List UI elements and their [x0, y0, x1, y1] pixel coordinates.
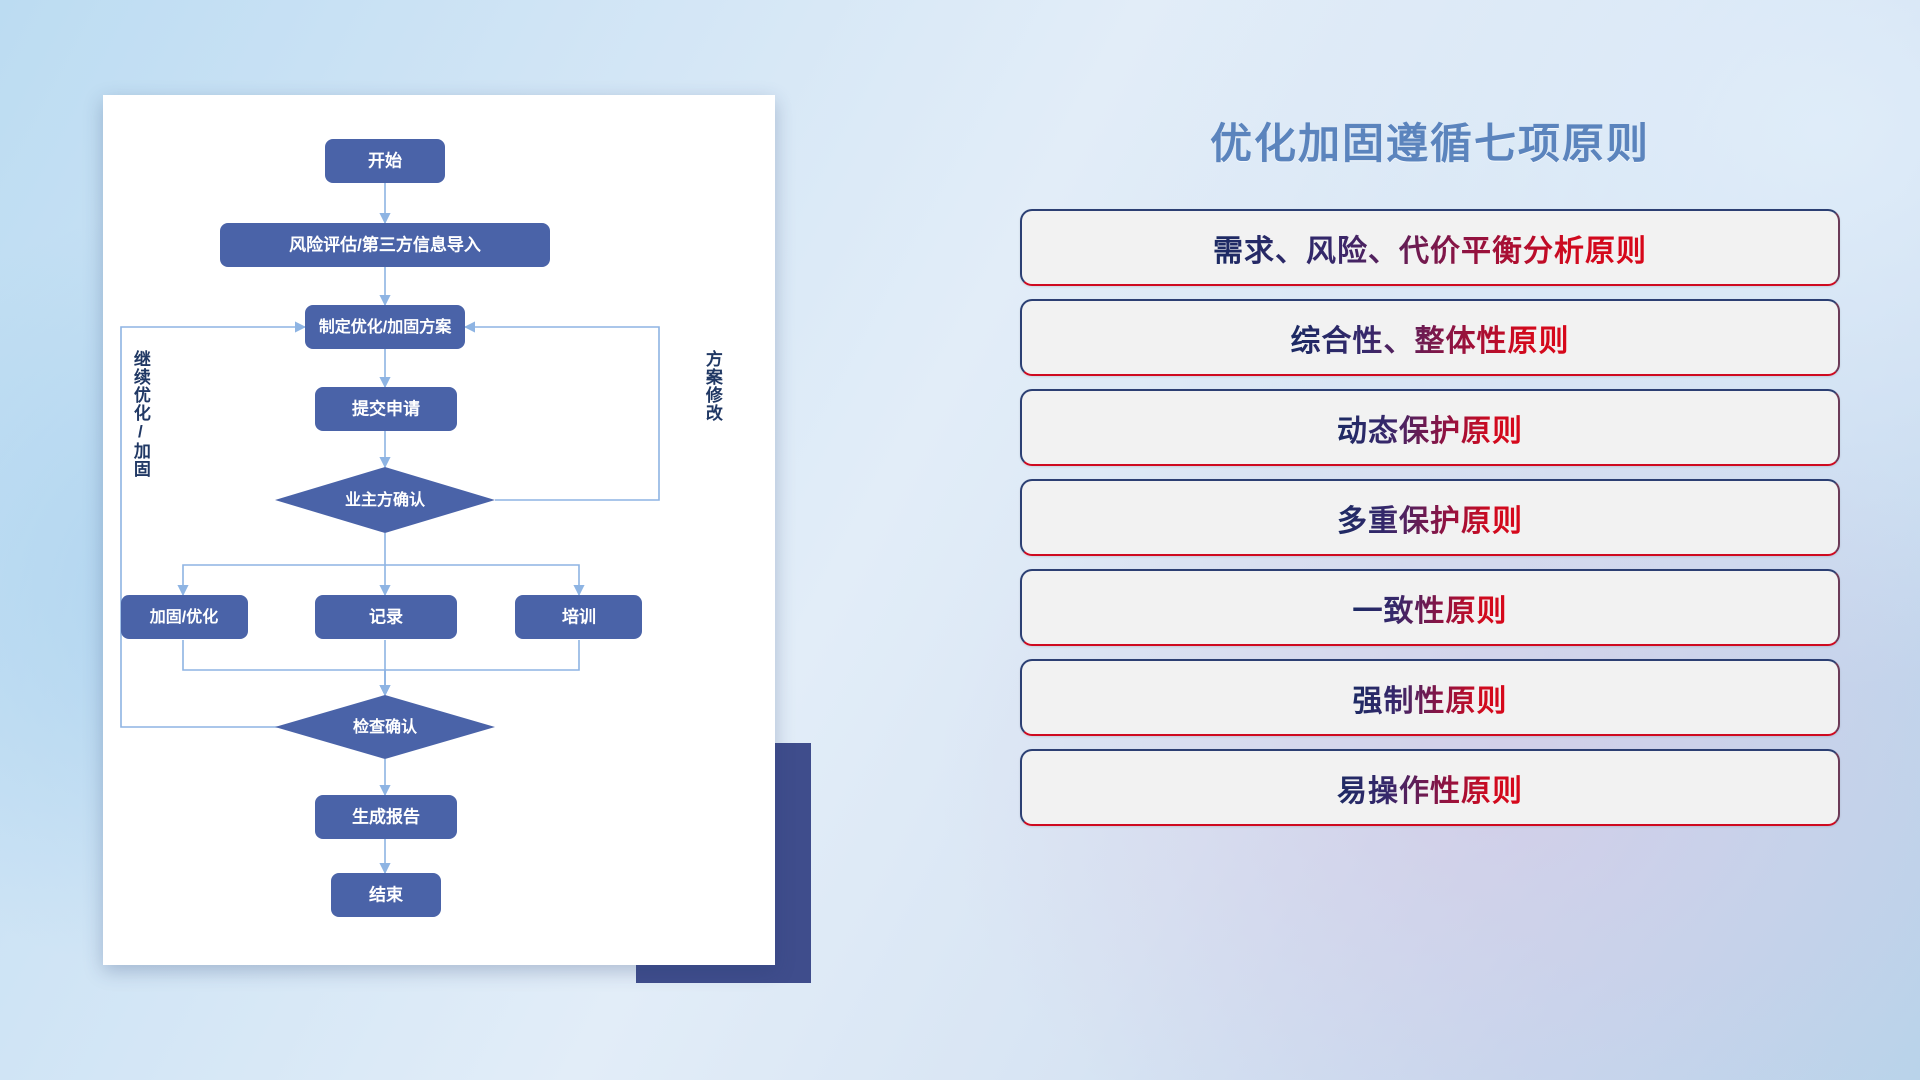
flow-node-start-label: 开始 [368, 150, 402, 170]
principle-card[interactable]: 综合性、整体性原则 [1020, 299, 1840, 376]
flow-edge-label-right-loop: 方案修改 [703, 350, 721, 422]
flowchart-svg: 开始 风险评估/第三方信息导入 制定优化/加固方案 提交申请 业主方确认 [103, 95, 775, 965]
principle-card-label: 强制性原则 [1353, 676, 1508, 720]
flow-node-start[interactable]: 开始 [325, 139, 445, 183]
flow-node-report-label: 生成报告 [352, 806, 420, 826]
flow-node-record-label: 记录 [369, 607, 403, 626]
flow-node-check[interactable]: 检查确认 [275, 695, 495, 759]
flow-node-train-label: 培训 [562, 606, 596, 626]
flow-node-risk-label: 风险评估/第三方信息导入 [289, 234, 481, 254]
flow-node-end-label: 结束 [369, 884, 403, 904]
flow-node-owner-confirm-label: 业主方确认 [345, 490, 426, 509]
principle-card-label: 综合性、整体性原则 [1291, 316, 1570, 360]
principle-card-label: 一致性原则 [1353, 586, 1508, 630]
principle-card-label: 动态保护原则 [1337, 406, 1523, 450]
flow-node-submit[interactable]: 提交申请 [315, 387, 457, 431]
principles-list: 需求、风险、代价平衡分析原则 综合性、整体性原则 动态保护原则 多重保护原则 一… [1020, 209, 1840, 826]
flow-node-risk[interactable]: 风险评估/第三方信息导入 [220, 223, 550, 267]
principles-section: 优化加固遵循七项原则 需求、风险、代价平衡分析原则 综合性、整体性原则 动态保护… [1020, 95, 1840, 995]
flow-node-check-label: 检查确认 [353, 717, 418, 736]
flow-edge-label-left-loop: 继续优化/加固 [131, 350, 149, 478]
flow-node-report[interactable]: 生成报告 [315, 795, 457, 839]
slide-canvas: 开始 风险评估/第三方信息导入 制定优化/加固方案 提交申请 业主方确认 [0, 0, 1920, 1080]
principle-card[interactable]: 需求、风险、代价平衡分析原则 [1020, 209, 1840, 286]
flow-node-plan[interactable]: 制定优化/加固方案 [305, 305, 465, 349]
principle-card[interactable]: 强制性原则 [1020, 659, 1840, 736]
flow-node-plan-label: 制定优化/加固方案 [319, 317, 452, 336]
principle-card[interactable]: 易操作性原则 [1020, 749, 1840, 826]
flowchart-panel: 开始 风险评估/第三方信息导入 制定优化/加固方案 提交申请 业主方确认 [103, 95, 775, 965]
principle-card[interactable]: 一致性原则 [1020, 569, 1840, 646]
flow-node-train[interactable]: 培训 [515, 595, 642, 639]
flow-node-reinforce[interactable]: 加固/优化 [121, 595, 248, 639]
principle-card-label: 多重保护原则 [1337, 496, 1523, 540]
principle-card[interactable]: 多重保护原则 [1020, 479, 1840, 556]
flow-node-submit-label: 提交申请 [352, 398, 420, 418]
flow-node-record[interactable]: 记录 [315, 595, 457, 639]
flow-node-owner-confirm[interactable]: 业主方确认 [275, 467, 495, 533]
flow-node-reinforce-label: 加固/优化 [149, 607, 218, 626]
principle-card-label: 易操作性原则 [1337, 766, 1523, 810]
flow-node-end[interactable]: 结束 [331, 873, 441, 917]
principle-card-label: 需求、风险、代价平衡分析原则 [1213, 226, 1647, 270]
principle-card[interactable]: 动态保护原则 [1020, 389, 1840, 466]
principles-title: 优化加固遵循七项原则 [1020, 110, 1840, 171]
